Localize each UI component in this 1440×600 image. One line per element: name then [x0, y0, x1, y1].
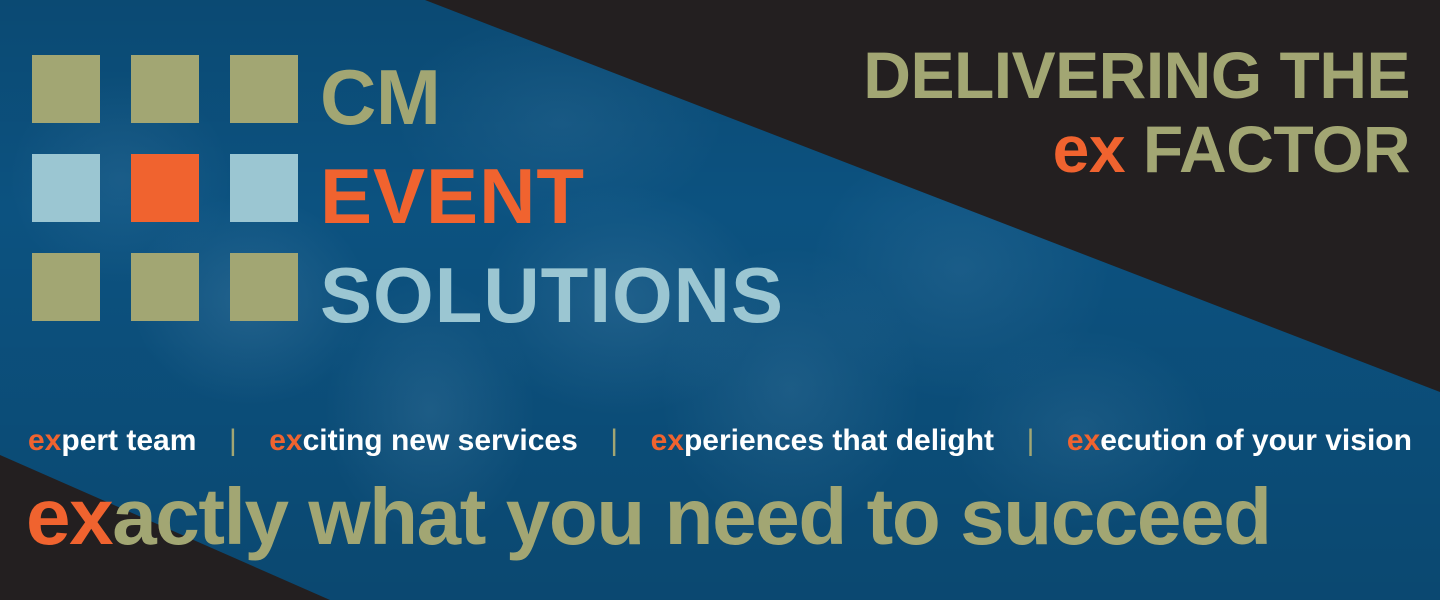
strapline-text: ecution of your vision: [1100, 424, 1412, 457]
strapline-ex-prefix: ex: [651, 424, 684, 457]
strapline-item-execution-of-your-vision: execution of your vision: [1067, 424, 1412, 458]
strapline-item-expert-team: expert team: [28, 424, 196, 458]
logo-square-r1c3: [230, 55, 298, 123]
logo-square-r1c1: [32, 55, 100, 123]
logo-square-r2c2: [131, 154, 199, 222]
logo-wordmark: CM EVENT SOLUTIONS: [320, 48, 784, 345]
strapline-ex-prefix: ex: [28, 424, 61, 457]
logo-square-r3c1: [32, 253, 100, 321]
headline-exactly-what-you-need-to-succeed: exactly what you need to succeed: [26, 473, 1271, 561]
marketing-banner: CM EVENT SOLUTIONS DELIVERING THE ex FAC…: [0, 0, 1440, 600]
headline-bottom-text: actly what you need to succeed: [112, 472, 1270, 561]
strapline-ex-prefix: ex: [269, 424, 302, 457]
strapline-text: pert team: [61, 424, 196, 457]
logo-square-r2c3: [230, 154, 298, 222]
logo-square-r2c1: [32, 154, 100, 222]
logo-word-cm: CM: [320, 48, 784, 147]
logo-square-r1c2: [131, 55, 199, 123]
strapline-text: citing new services: [303, 424, 578, 457]
strapline-separator-3: |: [1025, 424, 1037, 458]
strapline-list: expert team | exciting new services | ex…: [28, 424, 1412, 458]
logo-word-event: EVENT: [320, 147, 784, 246]
strapline-item-exciting-new-services: exciting new services: [269, 424, 578, 458]
headline-top-ex: ex: [1053, 112, 1125, 186]
logo-square-grid: [32, 55, 298, 321]
strapline-ex-prefix: ex: [1067, 424, 1100, 457]
strapline-item-experiences-that-delight: experiences that delight: [651, 424, 994, 458]
logo-square-r3c3: [230, 253, 298, 321]
headline-bottom-ex: ex: [26, 472, 112, 561]
strapline-text: periences that delight: [684, 424, 994, 457]
logo-word-solutions: SOLUTIONS: [320, 246, 784, 345]
headline-top-factor: FACTOR: [1125, 112, 1410, 186]
headline-top-line2: ex FACTOR: [863, 112, 1410, 186]
strapline-separator-2: |: [608, 424, 620, 458]
strapline-separator-1: |: [227, 424, 239, 458]
logo-square-r3c2: [131, 253, 199, 321]
headline-delivering-the-ex-factor: DELIVERING THE ex FACTOR: [863, 38, 1410, 186]
headline-top-line1: DELIVERING THE: [863, 38, 1410, 112]
